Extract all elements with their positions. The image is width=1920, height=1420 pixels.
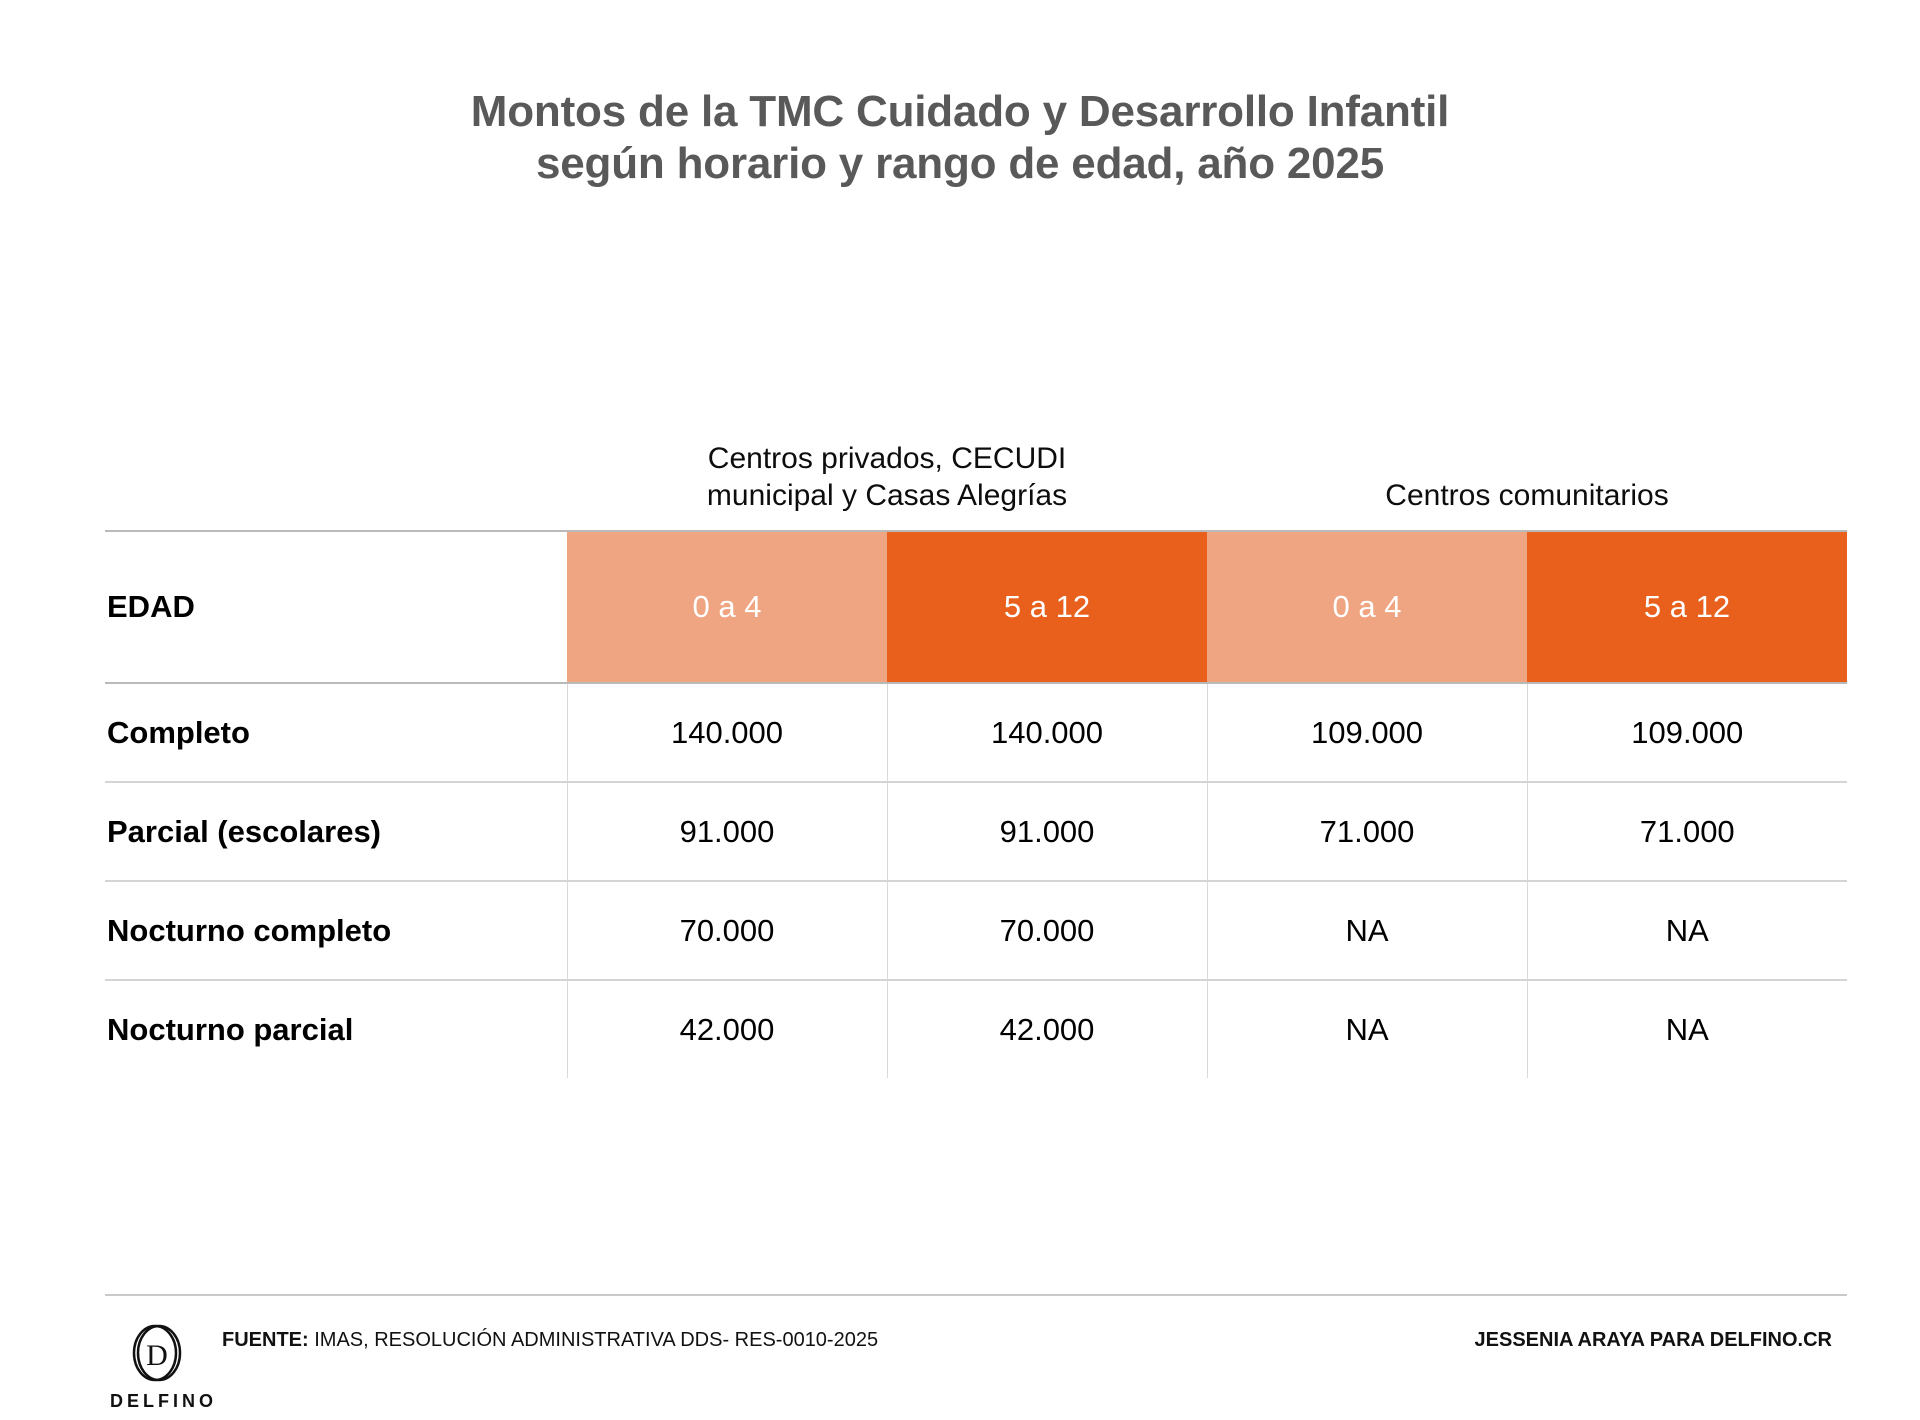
group-header-comunitarios-line1: Centros comunitarios: [1211, 477, 1843, 514]
cell-r1-c2: 71.000: [1207, 782, 1527, 881]
table-row: Completo 140.000 140.000 109.000 109.000: [105, 683, 1847, 782]
row-label: Nocturno completo: [105, 881, 567, 980]
group-header-privados-line2: municipal y Casas Alegrías: [571, 477, 1203, 514]
svg-text:D: D: [146, 1339, 168, 1372]
credit-note: JESSENIA ARAYA PARA DELFINO.CR: [1475, 1329, 1832, 1352]
column-header-1: 5 a 12: [887, 531, 1207, 683]
cell-r0-c3: 109.000: [1527, 683, 1847, 782]
cell-r3-c0: 42.000: [567, 980, 887, 1078]
footer-divider: [105, 1294, 1847, 1296]
cell-r3-c1: 42.000: [887, 980, 1207, 1078]
group-header-spacer: [105, 440, 567, 531]
cell-r3-c2: NA: [1207, 980, 1527, 1078]
cell-r1-c0: 91.000: [567, 782, 887, 881]
cell-r2-c3: NA: [1527, 881, 1847, 980]
edad-label: EDAD: [105, 531, 567, 683]
cell-r0-c1: 140.000: [887, 683, 1207, 782]
column-header-0: 0 a 4: [567, 531, 887, 683]
column-header-2: 0 a 4: [1207, 531, 1527, 683]
table-row: Nocturno parcial 42.000 42.000 NA NA: [105, 980, 1847, 1078]
table-row: Nocturno completo 70.000 70.000 NA NA: [105, 881, 1847, 980]
title-line-1: Montos de la TMC Cuidado y Desarrollo In…: [0, 86, 1920, 138]
cell-r1-c3: 71.000: [1527, 782, 1847, 881]
delfino-logo-wordmark: DELFINO: [110, 1391, 206, 1412]
cell-r2-c2: NA: [1207, 881, 1527, 980]
source-note-prefix: FUENTE:: [222, 1329, 309, 1351]
cell-r1-c1: 91.000: [887, 782, 1207, 881]
delfino-logo: D DELFINO: [110, 1320, 206, 1412]
source-note: FUENTE: IMAS, RESOLUCIÓN ADMINISTRATIVA …: [222, 1329, 878, 1352]
infographic-canvas: Montos de la TMC Cuidado y Desarrollo In…: [0, 0, 1920, 1420]
delfino-logo-icon: D: [125, 1320, 191, 1386]
cell-r2-c0: 70.000: [567, 881, 887, 980]
row-label: Nocturno parcial: [105, 980, 567, 1078]
table-row: Parcial (escolares) 91.000 91.000 71.000…: [105, 782, 1847, 881]
amounts-table: Centros privados, CECUDI municipal y Cas…: [105, 440, 1847, 1078]
age-band-header-row: EDAD 0 a 4 5 a 12 0 a 4 5 a 12: [105, 531, 1847, 683]
column-header-3: 5 a 12: [1527, 531, 1847, 683]
row-label: Completo: [105, 683, 567, 782]
cell-r2-c1: 70.000: [887, 881, 1207, 980]
cell-r0-c0: 140.000: [567, 683, 887, 782]
group-header-privados: Centros privados, CECUDI municipal y Cas…: [567, 440, 1207, 531]
group-header-comunitarios: Centros comunitarios: [1207, 440, 1847, 531]
page-title: Montos de la TMC Cuidado y Desarrollo In…: [0, 86, 1920, 190]
group-header-row: Centros privados, CECUDI municipal y Cas…: [105, 440, 1847, 531]
row-label: Parcial (escolares): [105, 782, 567, 881]
cell-r3-c3: NA: [1527, 980, 1847, 1078]
data-table-container: Centros privados, CECUDI municipal y Cas…: [105, 440, 1847, 1078]
group-header-privados-line1: Centros privados, CECUDI: [571, 440, 1203, 477]
title-line-2: según horario y rango de edad, año 2025: [0, 138, 1920, 190]
source-note-text: IMAS, RESOLUCIÓN ADMINISTRATIVA DDS- RES…: [309, 1329, 878, 1351]
cell-r0-c2: 109.000: [1207, 683, 1527, 782]
